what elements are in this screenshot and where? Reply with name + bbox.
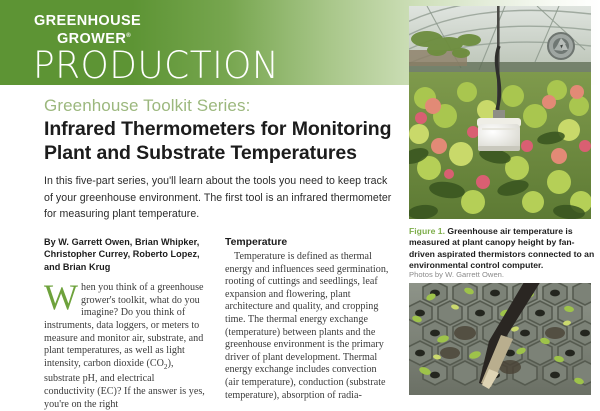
- brand-line-greenhouse: GREENHOUSE: [33, 14, 373, 29]
- section-heading-temperature: Temperature: [225, 236, 392, 249]
- body-column-middle: Temperature Temperature is defined as th…: [225, 236, 392, 402]
- brand-word-production: PRODUCTION: [33, 48, 363, 84]
- brand-logo: GREENHOUSE GROWER® PRODUCTION: [33, 14, 373, 84]
- magazine-page: GREENHOUSE GROWER® PRODUCTION Greenhouse…: [0, 0, 600, 400]
- body-paragraph-middle: Temperature is defined as thermal energy…: [225, 251, 392, 402]
- body-paragraph-left: When you think of a greenhouse grower's …: [44, 282, 207, 411]
- greenhouse-canopy-photo-graphic: [409, 6, 591, 219]
- seedling-tray-photo-graphic: [409, 283, 591, 395]
- drop-cap: W: [44, 282, 80, 311]
- registered-trademark-icon: ®: [126, 33, 131, 39]
- photo-credit: Photos by W. Garrett Owen.: [409, 270, 595, 279]
- page-title: Infrared Thermometers for Monitoring Pla…: [44, 118, 404, 165]
- article-deck: In this five-part series, you'll learn a…: [44, 173, 396, 223]
- greenhouse-canopy-photo: [409, 6, 591, 219]
- figure-label: Figure 1.: [409, 226, 445, 236]
- seedling-tray-photo: [409, 283, 591, 395]
- byline: By W. Garrett Owen, Brian Whipker, Chris…: [44, 236, 207, 273]
- body-column-left: By W. Garrett Owen, Brian Whipker, Chris…: [44, 236, 207, 411]
- figure-caption: Figure 1. Greenhouse air temperature is …: [409, 226, 595, 272]
- series-kicker: Greenhouse Toolkit Series:: [44, 96, 250, 116]
